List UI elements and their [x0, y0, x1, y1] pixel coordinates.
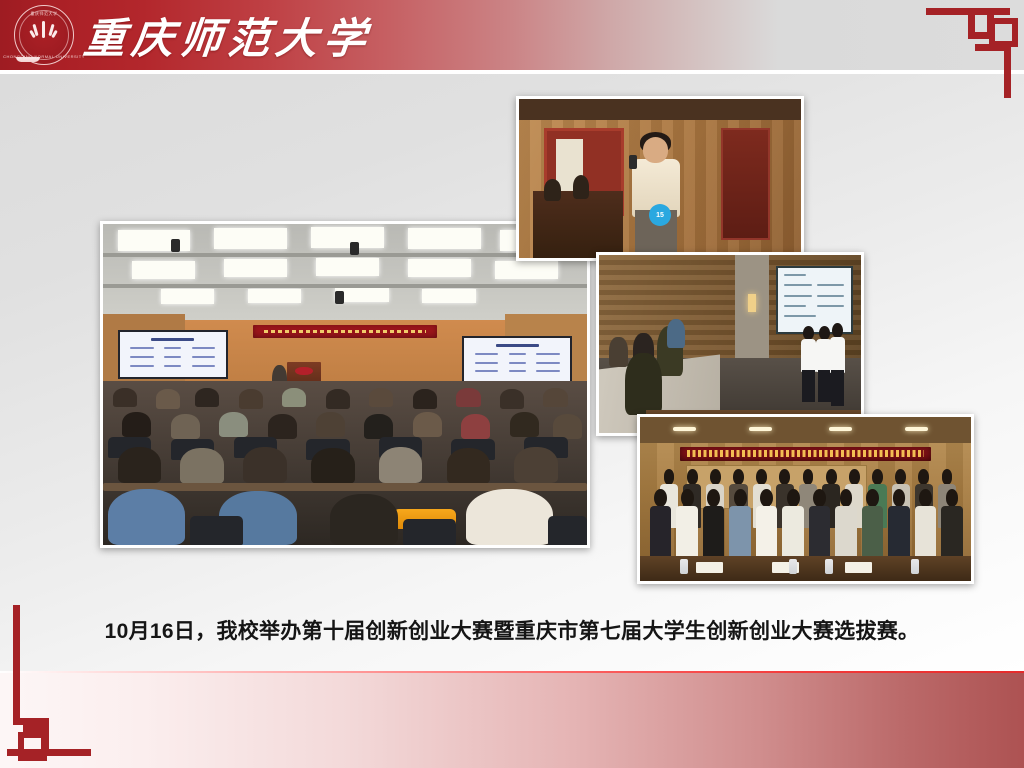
- emblem-flame-mark: [31, 21, 57, 45]
- slide-caption: 10月16日，我校举办第十届创新创业大赛暨重庆市第七届大学生创新创业大赛选拔赛。: [0, 615, 1024, 645]
- foreground-table: [640, 556, 971, 581]
- presenting-student: [801, 326, 817, 401]
- wooden-dais: [533, 191, 623, 258]
- university-name: 重庆师范大学: [81, 4, 376, 66]
- photo-presenter-with-microphone: 15: [516, 96, 804, 261]
- presenter-head: [643, 137, 668, 162]
- banner-text-strip: [687, 450, 923, 458]
- projector-screen-left: [118, 330, 228, 379]
- seated-person: [573, 175, 590, 199]
- ceiling: [640, 417, 971, 443]
- header-divider: [0, 70, 1024, 74]
- corner-ornament-top-right-icon: [905, 8, 1017, 98]
- news-slide: 重庆师范大学 CHONGQING NORMAL UNIVERSITY 重庆师范大…: [0, 0, 1024, 768]
- ceiling: [103, 224, 587, 320]
- judge-figure-foreground: [625, 353, 662, 415]
- emblem-bottom-arc-text: CHONGQING NORMAL UNIVERSITY: [3, 54, 85, 59]
- lecture-hall-scene: [103, 224, 587, 545]
- wall-lamp-icon: [748, 294, 756, 312]
- red-door: [721, 128, 770, 240]
- group-photo-scene: [640, 417, 971, 581]
- event-banner: [680, 447, 932, 462]
- photo-group: [637, 414, 974, 584]
- bottom-gradient-band: [0, 673, 1024, 768]
- presenter-scene: 15: [519, 99, 801, 258]
- audience-floor: [103, 381, 587, 545]
- photo-lecture-hall: [100, 221, 590, 548]
- judge-figure: [667, 319, 685, 347]
- seated-person: [544, 179, 561, 201]
- group-front-row: [640, 489, 971, 558]
- page-header: 重庆师范大学 CHONGQING NORMAL UNIVERSITY 重庆师范大…: [0, 0, 1024, 70]
- judges-panel-scene: [599, 255, 861, 433]
- projector-screen-right: [462, 336, 572, 383]
- photo-judges-panel: [596, 252, 864, 436]
- dark-ceiling: [519, 99, 801, 120]
- university-emblem-icon: 重庆师范大学 CHONGQING NORMAL UNIVERSITY: [14, 5, 74, 65]
- microphone-icon: [629, 155, 637, 169]
- emblem-top-arc-text: 重庆师范大学: [31, 11, 58, 17]
- presenting-student: [830, 323, 846, 405]
- stage-banner: [253, 325, 437, 338]
- judge-figure: [609, 337, 627, 367]
